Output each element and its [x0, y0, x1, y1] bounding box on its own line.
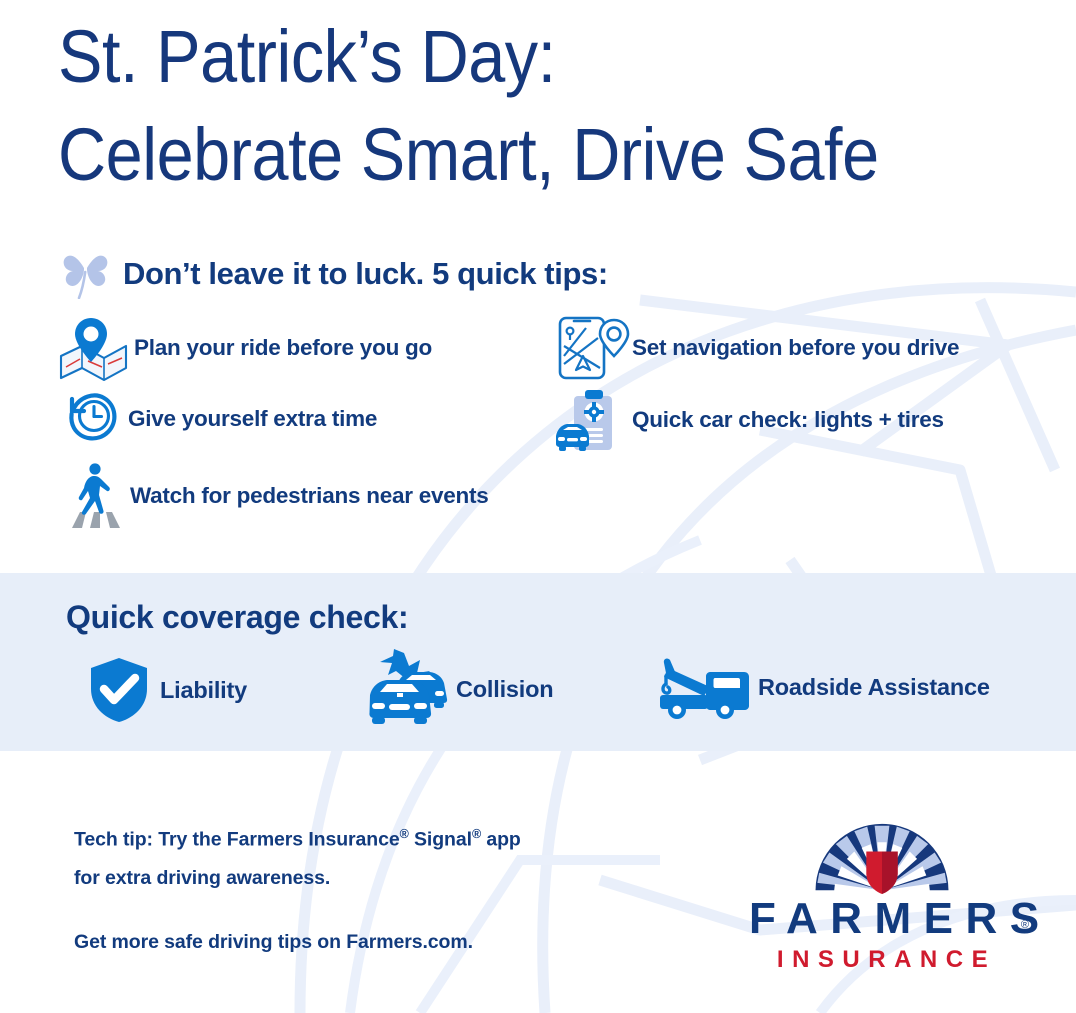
title-line-1: St. Patrick’s Day:	[58, 8, 958, 106]
footer-text: Tech tip: Try the Farmers Insurance® Sig…	[74, 815, 674, 961]
registered-mark-signal: ®	[472, 827, 481, 841]
registered-mark-insurance: ®	[400, 827, 409, 841]
coverage-item-roadside: Roadside Assistance	[658, 651, 990, 723]
tech-tip-line-2: for extra driving awareness.	[74, 859, 674, 897]
farmers-insurance-logo[interactable]: FARMERS® INSURANCE	[737, 822, 1027, 976]
coverage-label: Roadside Assistance	[758, 674, 990, 701]
tip-label: Set navigation before you drive	[632, 335, 959, 361]
footer-cta[interactable]: Get more safe driving tips on Farmers.co…	[74, 923, 674, 961]
footer-spacer	[74, 897, 674, 923]
tip-label: Give yourself extra time	[128, 406, 377, 432]
tip-label: Quick car check: lights + tires	[632, 407, 944, 433]
phone-navigation-icon	[552, 312, 632, 384]
subheading: Don’t leave it to luck. 5 quick tips:	[60, 243, 608, 304]
tip-item-extra-time: Give yourself extra time	[60, 388, 377, 450]
tech-tip-text-c: app	[481, 829, 521, 851]
coverage-label: Collision	[456, 676, 553, 703]
tip-label: Plan your ride before you go	[134, 335, 432, 361]
coverage-label: Liability	[160, 677, 247, 704]
map-pin-icon	[58, 312, 134, 384]
logo-registered-mark: ®	[1021, 900, 1029, 950]
tip-item-car-check: Quick car check: lights + tires	[552, 386, 944, 454]
tip-item-pedestrians: Watch for pedestrians near events	[66, 460, 489, 532]
tip-item-set-navigation: Set navigation before you drive	[552, 312, 959, 384]
coverage-item-liability: Liability	[88, 655, 247, 725]
tech-tip-line-1: Tech tip: Try the Farmers Insurance® Sig…	[74, 815, 674, 859]
title-line-2: Celebrate Smart, Drive Safe	[58, 106, 958, 204]
farmers-sunburst-shield-icon	[737, 822, 1027, 894]
tech-tip-text-b: Signal	[409, 829, 472, 851]
tip-label: Watch for pedestrians near events	[130, 483, 489, 509]
shield-check-icon	[88, 655, 160, 725]
car-collision-icon	[368, 649, 456, 729]
tow-truck-icon	[658, 651, 758, 723]
tip-item-plan-ride: Plan your ride before you go	[58, 312, 432, 384]
pedestrian-crosswalk-icon	[66, 460, 130, 532]
logo-subtext: INSURANCE	[737, 944, 1027, 976]
coverage-band: Quick coverage check: Liability	[0, 573, 1076, 751]
coverage-item-collision: Collision	[368, 649, 553, 729]
four-leaf-clover-icon	[60, 243, 112, 304]
logo-wordmark: FARMERS®	[737, 894, 1027, 944]
logo-wordmark-text: FARMERS	[749, 894, 1052, 943]
tech-tip-text-a: Tech tip: Try the Farmers Insurance	[74, 829, 400, 851]
page-title: St. Patrick’s Day: Celebrate Smart, Driv…	[58, 8, 1058, 204]
clock-rewind-icon	[60, 388, 128, 450]
car-checklist-icon	[552, 386, 632, 454]
coverage-title: Quick coverage check:	[66, 599, 408, 636]
subheading-text: Don’t leave it to luck. 5 quick tips:	[123, 256, 608, 292]
